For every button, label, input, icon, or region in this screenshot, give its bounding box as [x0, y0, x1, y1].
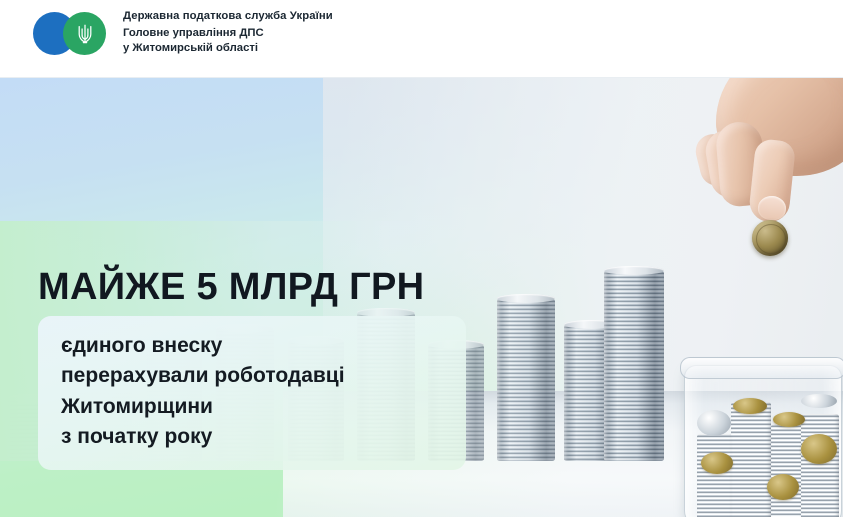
coin-jar: [678, 355, 843, 517]
dps-logo: [33, 11, 113, 56]
header-branding: Державна податкова служба України Головн…: [33, 11, 333, 57]
held-coin: [752, 220, 788, 256]
silver-coin: [801, 394, 837, 408]
hero-banner: МАЙЖЕ 5 МЛРД ГРН єдиного внеску перераху…: [0, 78, 843, 517]
org-name-line1: Державна податкова служба України: [123, 11, 333, 22]
jar-coin-stack: [731, 402, 771, 517]
message-line-3: Житомирщини: [61, 392, 444, 422]
gold-coin: [767, 474, 799, 500]
green-circle-icon: [63, 12, 106, 55]
gold-coin: [801, 434, 837, 464]
jar-glass: [684, 365, 842, 517]
org-title-block: Державна податкова служба України Головн…: [123, 11, 333, 57]
coin-edge: [756, 224, 786, 254]
gold-coin: [773, 412, 805, 427]
page-title: МАЙЖЕ 5 МЛРД ГРН: [38, 268, 424, 306]
message-card: єдиного внеску перерахували роботодавці …: [38, 316, 466, 470]
jar-coin-stack: [771, 424, 805, 517]
coin-stack: [604, 271, 664, 461]
ukraine-trident-icon: [75, 22, 95, 46]
jar-coin-stack: [697, 434, 735, 517]
banner-page: Державна податкова служба України Головн…: [0, 0, 843, 517]
org-name-line3: у Житомирській області: [123, 43, 333, 54]
gold-coin: [733, 398, 767, 414]
jar-rim: [680, 357, 843, 379]
coin-stack: [497, 299, 555, 461]
message-line-1: єдиного внеску: [61, 331, 444, 361]
jar-coin-stack: [801, 414, 839, 517]
message-line-2: перерахували роботодавці: [61, 361, 444, 391]
hand-holding-coin: [690, 78, 843, 278]
jar-coin-pile: [697, 388, 841, 517]
site-header: Державна податкова служба України Головн…: [0, 0, 843, 78]
gold-coin: [701, 452, 733, 474]
org-name-line2: Головне управління ДПС: [123, 28, 333, 39]
message-line-4: з початку року: [61, 422, 444, 452]
silver-coin: [697, 410, 731, 436]
